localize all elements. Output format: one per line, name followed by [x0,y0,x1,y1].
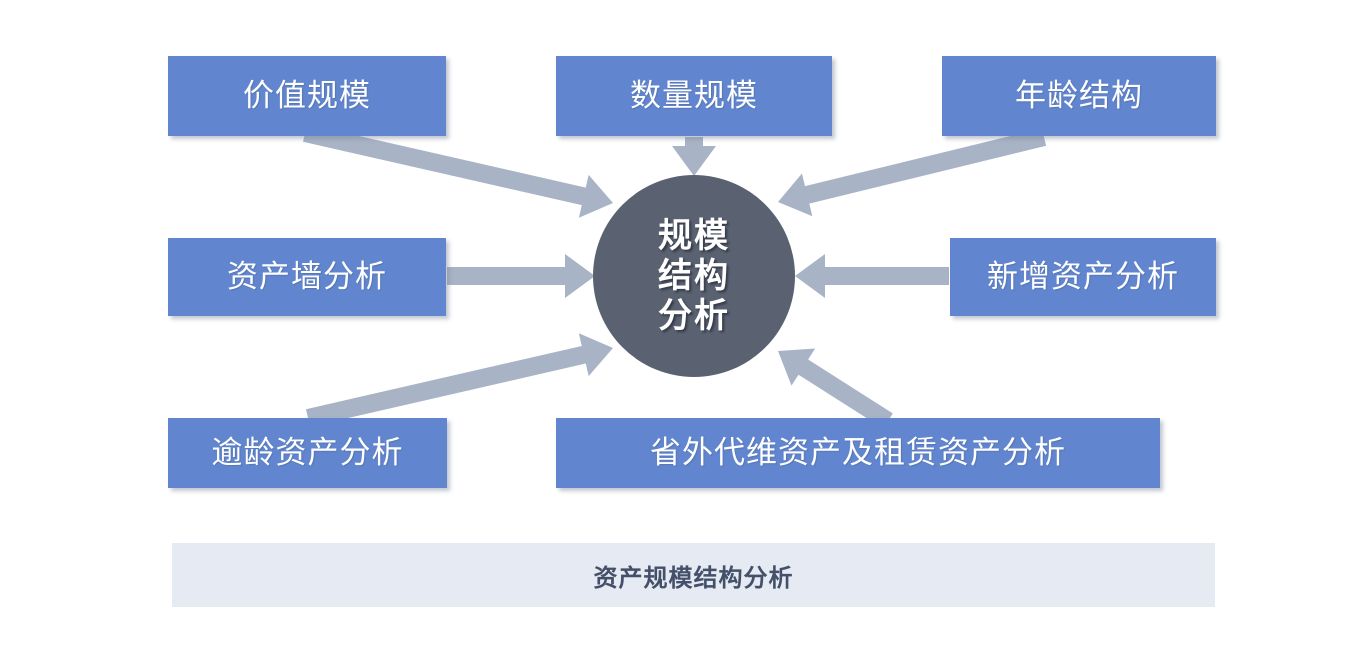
hub-line-1: 规模 [658,216,730,256]
diagram-canvas: 价值规模 数量规模 年龄结构 资产墙分析 新增资产分析 逾龄资产分析 省外代维资… [0,0,1372,651]
arrow-new-asset-to-hub [795,254,949,298]
node-label: 价值规模 [243,79,371,113]
node-box-out-of-province-leased-asset-analysis[interactable]: 省外代维资产及租赁资产分析 [556,418,1160,488]
node-label: 省外代维资产及租赁资产分析 [650,436,1066,470]
node-label: 年龄结构 [1015,79,1143,113]
node-label: 新增资产分析 [987,260,1179,294]
arrow-quantity-scale-to-hub [672,137,716,176]
node-box-quantity-scale[interactable]: 数量规模 [556,56,832,136]
node-label: 数量规模 [630,79,758,113]
node-box-asset-wall-analysis[interactable]: 资产墙分析 [168,238,446,316]
arrow-asset-wall-to-hub [447,254,595,298]
node-box-overage-asset-analysis[interactable]: 逾龄资产分析 [168,418,447,488]
caption-bar: 资产规模结构分析 [172,543,1215,607]
arrow-overage-asset-to-hub [306,333,613,427]
caption-text: 资产规模结构分析 [594,558,794,593]
center-hub-circle[interactable]: 规模 结构 分析 [593,175,795,377]
node-box-age-structure[interactable]: 年龄结构 [942,56,1216,136]
node-label: 逾龄资产分析 [212,436,404,470]
node-label: 资产墙分析 [227,260,387,294]
arrow-age-structure-to-hub [778,128,1046,216]
arrow-value-scale-to-hub [303,124,613,218]
arrow-out-of-province-to-hub [778,349,893,429]
hub-line-3: 分析 [658,296,730,336]
hub-line-2: 结构 [658,256,730,296]
node-box-value-scale[interactable]: 价值规模 [168,56,446,136]
node-box-new-asset-analysis[interactable]: 新增资产分析 [950,238,1216,316]
